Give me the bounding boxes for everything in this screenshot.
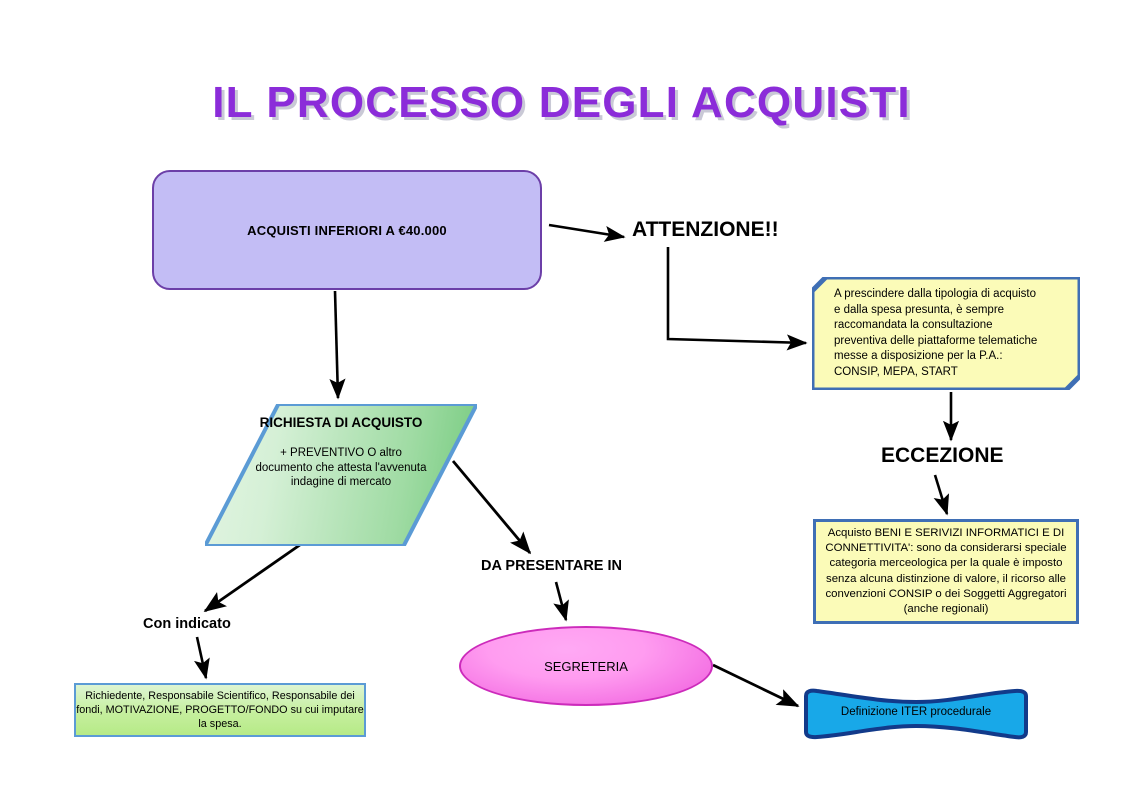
node-nota-eccezione[interactable]: Acquisto BENI E SERIVIZI INFORMATICI E D… (813, 519, 1079, 624)
connector-attenzione-to-nota (668, 247, 806, 343)
page-title: IL PROCESSO DEGLI ACQUISTI (0, 78, 1123, 128)
connector-presentare-to-segreteria (556, 582, 566, 620)
node-segreteria-label: SEGRETERIA (544, 659, 628, 674)
nota-line: messe a disposizione per la P.A.: (834, 349, 1064, 365)
node-nota-eccezione-text: Acquisto BENI E SERIVIZI INFORMATICI E D… (824, 526, 1068, 617)
nota-line: raccomandata la consultazione (834, 318, 1064, 334)
node-richiesta-acquisto-text: RICHIESTA DI ACQUISTO + PREVENTIVO O alt… (205, 404, 477, 546)
label-eccezione: ECCEZIONE (881, 444, 1004, 468)
node-acquisti-inferiori-label: ACQUISTI INFERIORI A €40.000 (247, 223, 447, 238)
node-richiesta-acquisto-title: RICHIESTA DI ACQUISTO (260, 414, 423, 432)
nota-line: A prescindere dalla tipologia di acquist… (834, 287, 1064, 303)
connector-segreteria-to-iter (713, 665, 798, 706)
node-segreteria[interactable]: SEGRETERIA (459, 626, 713, 706)
node-richiesta-acquisto-subtitle: + PREVENTIVO O altro documento che attes… (255, 446, 427, 490)
label-con-indicato: Con indicato (143, 616, 231, 632)
node-responsabili-text: Richiedente, Responsabile Scientifico, R… (76, 689, 364, 731)
label-attenzione: ATTENZIONE!! (632, 218, 779, 242)
node-definizione-iter-label-wrap: Definizione ITER procedurale (803, 688, 1029, 740)
diagram-canvas: IL PROCESSO DEGLI ACQUISTI ACQUISTI (0, 0, 1123, 803)
label-da-presentare-in: DA PRESENTARE IN (481, 558, 622, 574)
node-responsabili[interactable]: Richiedente, Responsabile Scientifico, R… (74, 683, 366, 737)
connector-acquisti-to-richiesta (335, 291, 338, 398)
connector-eccezione-to-nota (935, 475, 947, 514)
connector-acquisti-to-attenzione (549, 225, 624, 237)
nota-line: CONSIP, MEPA, START (834, 365, 1064, 381)
node-nota-piattaforme[interactable]: A prescindere dalla tipologia di acquist… (812, 277, 1080, 390)
nota-line: preventiva delle piattaforme telematiche (834, 334, 1064, 350)
nota-line: e dalla spesa presunta, è sempre (834, 303, 1064, 319)
connector-con-indicato-to-responsabili (197, 637, 206, 678)
node-acquisti-inferiori[interactable]: ACQUISTI INFERIORI A €40.000 (152, 170, 542, 290)
node-nota-piattaforme-text: A prescindere dalla tipologia di acquist… (834, 287, 1064, 380)
connector-richiesta-to-con-indicato (205, 540, 307, 611)
node-definizione-iter-label: Definizione ITER procedurale (841, 706, 991, 718)
node-richiesta-acquisto[interactable]: RICHIESTA DI ACQUISTO + PREVENTIVO O alt… (205, 404, 477, 546)
node-definizione-iter[interactable]: Definizione ITER procedurale (803, 688, 1029, 740)
cut-corner-shape: A prescindere dalla tipologia di acquist… (812, 277, 1080, 390)
